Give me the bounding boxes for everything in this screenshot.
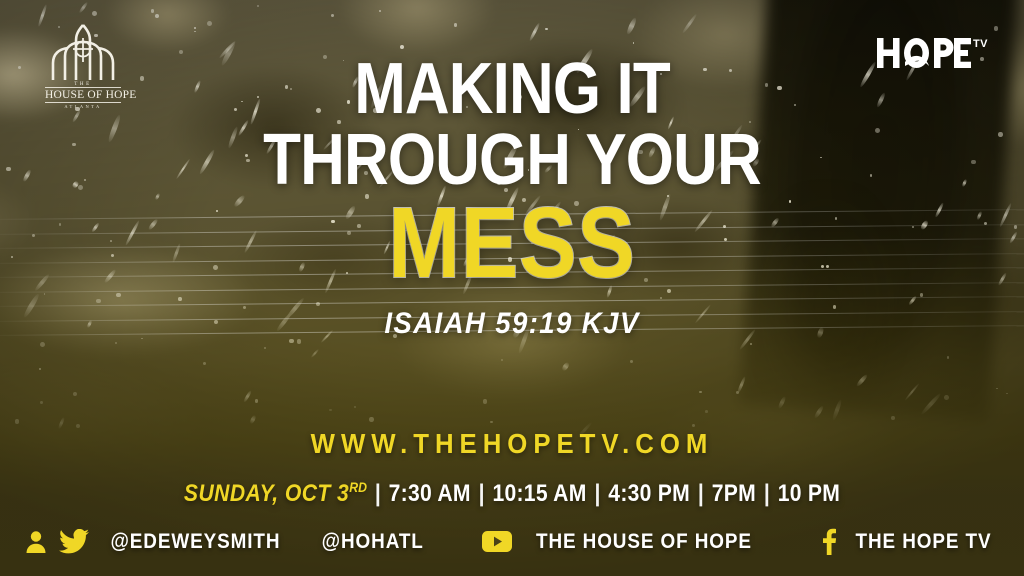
social-item[interactable]: @HOHATL xyxy=(316,530,429,554)
social-handle[interactable]: THE HOPE TV xyxy=(855,530,991,554)
facebook-icon[interactable] xyxy=(820,528,836,555)
social-handle[interactable]: THE HOUSE OF HOPE xyxy=(536,530,752,554)
schedule-separator: | xyxy=(698,480,704,508)
schedule-day-ordinal: RD xyxy=(349,479,367,495)
schedule-time: 4:30 PM xyxy=(608,480,690,508)
schedule-separator: | xyxy=(594,480,600,508)
schedule-separator: | xyxy=(375,480,381,508)
scripture-reference: ISAIAH 59:19 KJV xyxy=(41,307,983,341)
title-line-2: THROUGH YOUR xyxy=(72,127,953,193)
twitter-icon[interactable] xyxy=(59,529,89,554)
hope-tv-suffix: TV xyxy=(973,38,988,50)
service-schedule: SUNDAY, OCT 3RD|7:30 AM|10:15 AM|4:30 PM… xyxy=(61,479,962,508)
schedule-time: 7:30 AM xyxy=(389,480,471,508)
social-media-bar: @EDEWEYSMITH@HOHATLTHE HOUSE OF HOPETHE … xyxy=(0,528,1024,555)
title-block: MAKING IT THROUGH YOUR MESS ISAIAH 59:19… xyxy=(0,56,1024,341)
schedule-time: 7PM xyxy=(712,480,756,508)
social-handle[interactable]: @EDEWEYSMITH xyxy=(111,530,281,554)
person-icon[interactable] xyxy=(25,530,47,554)
social-handle[interactable]: @HOHATL xyxy=(322,530,424,554)
schedule-separator: | xyxy=(764,480,770,508)
schedule-separator: | xyxy=(479,480,485,508)
youtube-icon[interactable] xyxy=(482,531,512,552)
social-item[interactable]: THE HOPE TV xyxy=(820,528,999,555)
social-item[interactable]: @EDEWEYSMITH xyxy=(59,529,290,554)
website-url[interactable]: WWW.THEHOPETV.COM xyxy=(41,428,983,460)
social-item[interactable]: THE HOUSE OF HOPE xyxy=(482,530,764,554)
social-item[interactable] xyxy=(25,530,47,554)
schedule-time: 10:15 AM xyxy=(492,480,586,508)
title-line-3: MESS xyxy=(72,197,953,289)
title-line-1: MAKING IT xyxy=(72,56,953,122)
schedule-day: SUNDAY, OCT 3RD xyxy=(184,479,367,508)
schedule-time: 10 PM xyxy=(778,480,840,508)
